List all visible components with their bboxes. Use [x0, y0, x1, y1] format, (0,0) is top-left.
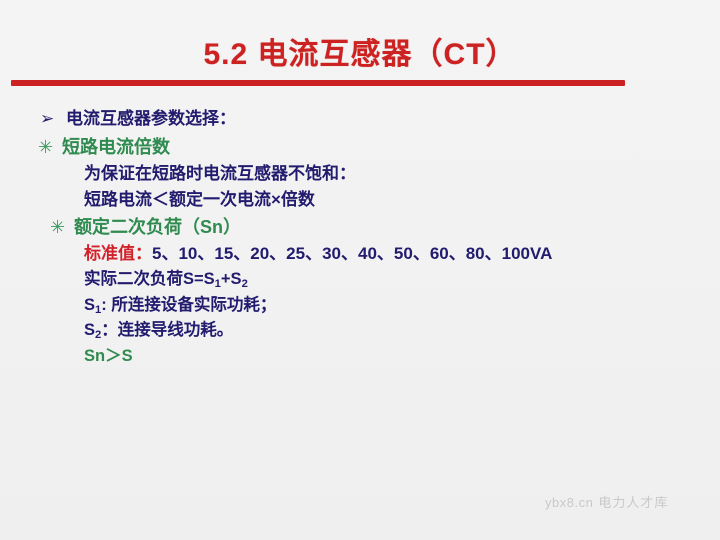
- s2-subscript: 2: [95, 329, 101, 341]
- watermark-site: ybx8.cn: [545, 495, 593, 510]
- actual-load-sub-2: 2: [242, 278, 248, 290]
- standard-value-label: 标准值：: [84, 244, 152, 263]
- section2-conclusion: Sn＞S: [84, 348, 720, 365]
- section1-title-row: ✳短路电流倍数: [38, 138, 720, 156]
- section1-line-2: 短路电流＜额定一次电流×倍数: [84, 191, 720, 208]
- watermark: ybx8.cn电力人才库: [545, 492, 668, 511]
- standard-value-list: 5、10、15、20、25、30、40、50、60、80、100VA: [152, 244, 552, 263]
- section2-s2-definition: S2：连接导线功耗。: [84, 322, 720, 339]
- section2-s1-definition: S1: 所连接设备实际功耗；: [84, 297, 720, 314]
- star-bullet-icon: ✳: [50, 218, 74, 236]
- page-title: 5.2 电流互感器（CT）: [203, 38, 516, 73]
- s2-description: ：连接导线功耗。: [101, 321, 233, 339]
- section2-title-row: ✳额定二次负荷（Sn）: [50, 218, 720, 236]
- section1-title-text: 短路电流倍数: [62, 137, 170, 157]
- s1-description: : 所连接设备实际功耗；: [101, 296, 276, 314]
- watermark-name: 电力人才库: [598, 495, 668, 510]
- s1-subscript: 1: [95, 304, 101, 316]
- title-block: 5.2 电流互感器（CT）: [0, 38, 720, 73]
- section2-standard-values-row: 标准值：5、10、15、20、25、30、40、50、60、80、100VA: [84, 245, 720, 262]
- slide-body: ➢电流互感器参数选择： ✳短路电流倍数 为保证在短路时电流互感器不饱和： 短路电…: [0, 110, 720, 373]
- title-underline-rule: [11, 80, 625, 86]
- content-heading-text: 电流互感器参数选择：: [66, 109, 236, 128]
- s2-symbol: S: [84, 321, 95, 339]
- arrow-bullet-icon: ➢: [40, 110, 66, 127]
- actual-load-prefix: 实际二次负荷S=S: [84, 270, 215, 288]
- section2-actual-load-formula: 实际二次负荷S=S1+S2: [84, 271, 720, 288]
- section1-line-1: 为保证在短路时电流互感器不饱和：: [84, 165, 720, 182]
- s1-symbol: S: [84, 296, 95, 314]
- star-bullet-icon: ✳: [38, 138, 62, 156]
- actual-load-mid: +S: [221, 270, 242, 288]
- section2-title-text: 额定二次负荷（Sn）: [74, 217, 241, 237]
- content-heading-row: ➢电流互感器参数选择：: [40, 110, 720, 127]
- slide-canvas: 5.2 电流互感器（CT） ➢电流互感器参数选择： ✳短路电流倍数 为保证在短路…: [0, 0, 720, 540]
- actual-load-sub-1: 1: [215, 278, 221, 290]
